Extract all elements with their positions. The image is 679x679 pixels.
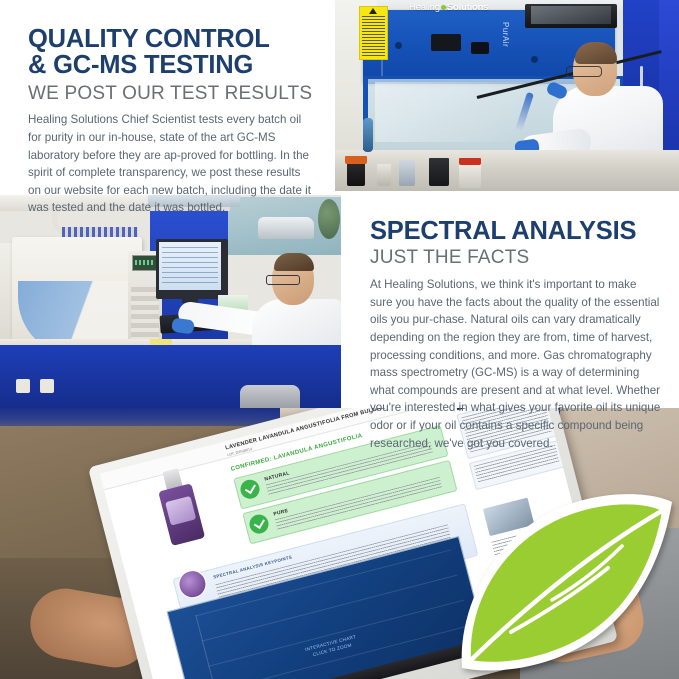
product-bottle-image [154,466,205,546]
photo-fume-hood-lab: HealingSolutions PurAir [335,0,679,191]
spectral-analysis-body: At Healing Solutions, we think it's impo… [370,276,662,452]
hood-brand-logo: HealingSolutions [409,2,488,13]
photo-gcms-instrument [0,195,341,408]
quality-control-heading: QUALITY CONTROL & GC-MS TESTING [28,26,324,79]
quality-control-text-block: QUALITY CONTROL & GC-MS TESTING WE POST … [28,26,324,217]
spectral-analysis-text-block: SPECTRAL ANALYSIS JUST THE FACTS At Heal… [370,218,666,452]
quality-control-subheading: WE POST OUR TEST RESULTS [28,84,324,105]
leaf-icon [448,492,679,676]
heading-line-1: QUALITY CONTROL [28,25,270,53]
hazard-warning-label [359,6,388,60]
spectral-analysis-subheading: JUST THE FACTS [370,248,666,269]
heading-line-2: & GC-MS TESTING [28,51,253,79]
hood-model-text: PurAir [501,22,510,47]
quality-control-body: Healing Solutions Chief Scientist tests … [28,111,316,217]
infographic-page: HealingSolutions PurAir [0,0,679,679]
spectral-analysis-heading: SPECTRAL ANALYSIS [370,218,666,244]
